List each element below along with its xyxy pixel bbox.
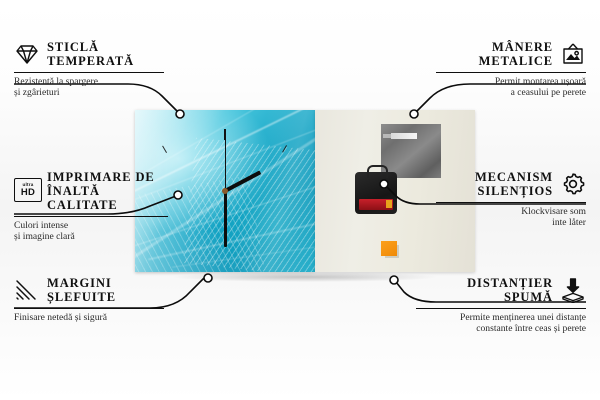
feature-title: DISTANȚIER SPUMĂ [467,276,553,304]
clock-minute-hand [224,191,227,247]
feature-description: Permite menținerea unei distanțe constan… [416,312,586,335]
gear-icon [560,171,586,197]
hanger-slot [391,133,417,139]
diagonal-lines-icon [14,277,40,303]
callout-rule [14,308,164,309]
callout-header: MARGINI ȘLEFUITE [14,276,164,304]
ultra-hd-icon-large-label: HD [21,188,35,198]
feature-callout-metal-handles[interactable]: MÂNERE METALICE Permit montarea ușoară a… [436,40,586,99]
feature-callout-high-quality-print[interactable]: ultra HD IMPRIMARE DE ÎNALTĂ CALITATE Cu… [14,170,168,243]
feature-callout-foam-spacer[interactable]: DISTANȚIER SPUMĂ Permite menținerea unei… [416,276,586,335]
feature-description: Klockvisare som inte låter [436,206,586,229]
feature-title: MECANISM SILENȚIOS [475,170,553,198]
callout-rule [14,216,168,217]
callout-header: ultra HD IMPRIMARE DE ÎNALTĂ CALITATE [14,170,168,212]
feature-title: MARGINI ȘLEFUITE [47,276,116,304]
feature-callout-silent-mechanism[interactable]: MECANISM SILENȚIOS Klockvisare som inte … [436,170,586,229]
feature-callout-polished-edges[interactable]: MARGINI ȘLEFUITE Finisare netedă și sigu… [14,276,164,323]
feature-description: Finisare netedă și sigură [14,312,164,323]
feature-description: Rezistentă la spargere și zgârieturi [14,76,164,99]
product-image [135,110,475,273]
callout-rule [436,202,586,203]
callout-rule [14,72,164,73]
clock-mechanism [355,172,397,214]
diamond-icon [14,41,40,67]
mechanism-loop [367,165,388,178]
metal-hanger [381,124,441,178]
arrow-onto-pad-icon [560,277,586,303]
clock-center-cap [222,188,228,194]
clock-tick [135,252,163,254]
ultra-hd-icon: ultra HD [14,178,40,204]
feature-description: Permit montarea ușoară a ceasului pe per… [436,76,586,99]
clock-tick [287,252,315,254]
infographic-canvas: STICLĂ TEMPERATĂ Rezistentă la spargere … [0,0,600,400]
callout-header: DISTANȚIER SPUMĂ [416,276,586,304]
feature-title: MÂNERE METALICE [479,40,553,68]
callout-header: MECANISM SILENȚIOS [436,170,586,198]
foam-spacer [381,241,397,256]
feature-callout-tempered-glass[interactable]: STICLĂ TEMPERATĂ Rezistentă la spargere … [14,40,164,99]
picture-frame-hanger-icon [560,41,586,67]
feature-description: Culori intense și imagine clară [14,220,168,243]
callout-header: STICLĂ TEMPERATĂ [14,40,164,68]
clock-second-hand [225,139,226,191]
callout-header: MÂNERE METALICE [436,40,586,68]
feature-title: STICLĂ TEMPERATĂ [47,40,134,68]
battery-terminal [386,200,392,208]
battery [359,199,393,210]
feature-title: IMPRIMARE DE ÎNALTĂ CALITATE [47,170,168,212]
callout-rule [436,72,586,73]
callout-rule [416,308,586,309]
